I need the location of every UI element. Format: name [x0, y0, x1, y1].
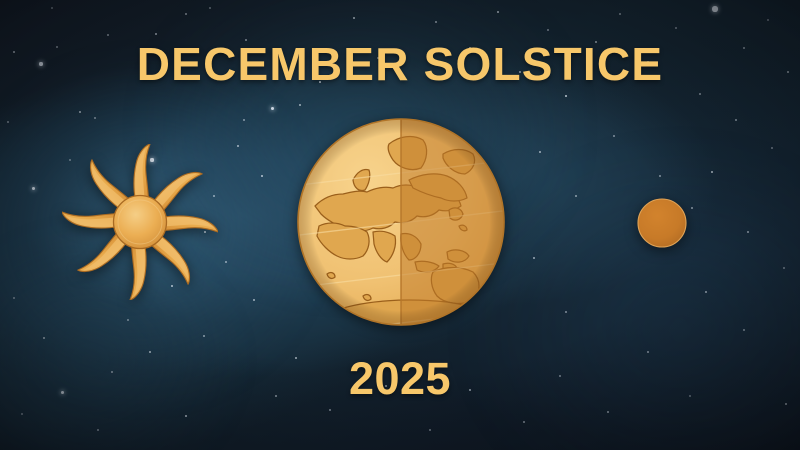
earth-globe-icon [297, 114, 505, 330]
year-label: 2025 [0, 353, 800, 405]
sun-icon [62, 144, 218, 300]
moon-icon [637, 198, 687, 248]
solstice-poster: DECEMBER SOLSTICE 2025 [0, 0, 800, 450]
page-title: DECEMBER SOLSTICE [0, 37, 800, 91]
